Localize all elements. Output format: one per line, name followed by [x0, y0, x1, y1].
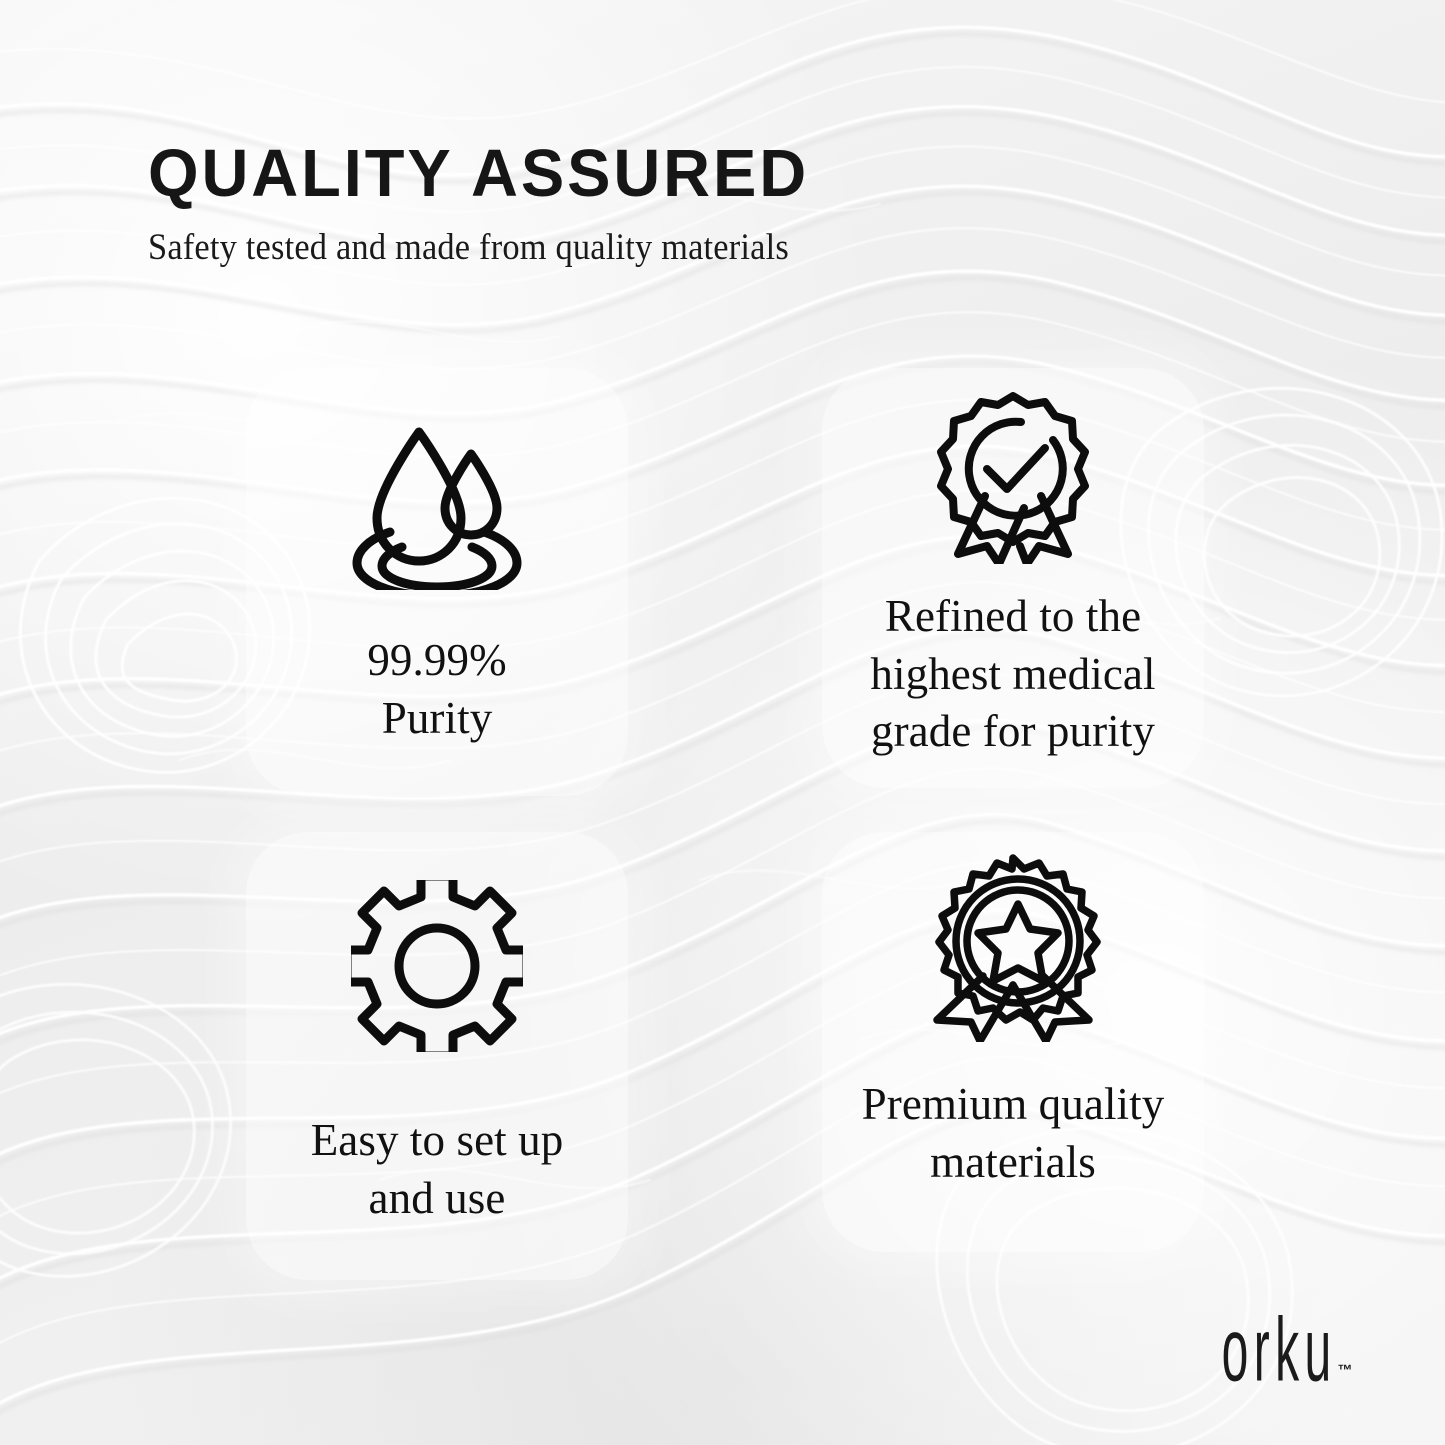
brand-logo[interactable]: orku ™: [1145, 1317, 1353, 1393]
feature-card-text: Easy to set up and use: [311, 1112, 564, 1227]
award-badge-check-icon: [925, 388, 1101, 564]
feature-card-text: 99.99% Purity: [367, 632, 506, 747]
feature-card-purity[interactable]: 99.99% Purity: [246, 368, 628, 796]
award-medal-star-icon: [925, 852, 1101, 1042]
trademark-symbol: ™: [1338, 1362, 1354, 1379]
header: QUALITY ASSURED Safety tested and made f…: [148, 140, 1248, 266]
feature-card-medical-grade[interactable]: Refined to the highest medical grade for…: [822, 368, 1204, 788]
water-drop-ripple-icon: [349, 414, 525, 590]
page-subtitle: Safety tested and made from quality mate…: [148, 229, 1171, 266]
gear-icon: [351, 880, 523, 1052]
feature-card-easy-setup[interactable]: Easy to set up and use: [246, 832, 628, 1280]
page-title: QUALITY ASSURED: [148, 140, 1215, 207]
feature-card-premium-materials[interactable]: Premium quality materials: [822, 832, 1204, 1252]
feature-card-text: Premium quality materials: [862, 1076, 1165, 1191]
feature-card-text: Refined to the highest medical grade for…: [870, 588, 1155, 761]
brand-logo-wordmark: orku: [1222, 1308, 1337, 1393]
quality-assured-infographic: QUALITY ASSURED Safety tested and made f…: [0, 0, 1445, 1445]
